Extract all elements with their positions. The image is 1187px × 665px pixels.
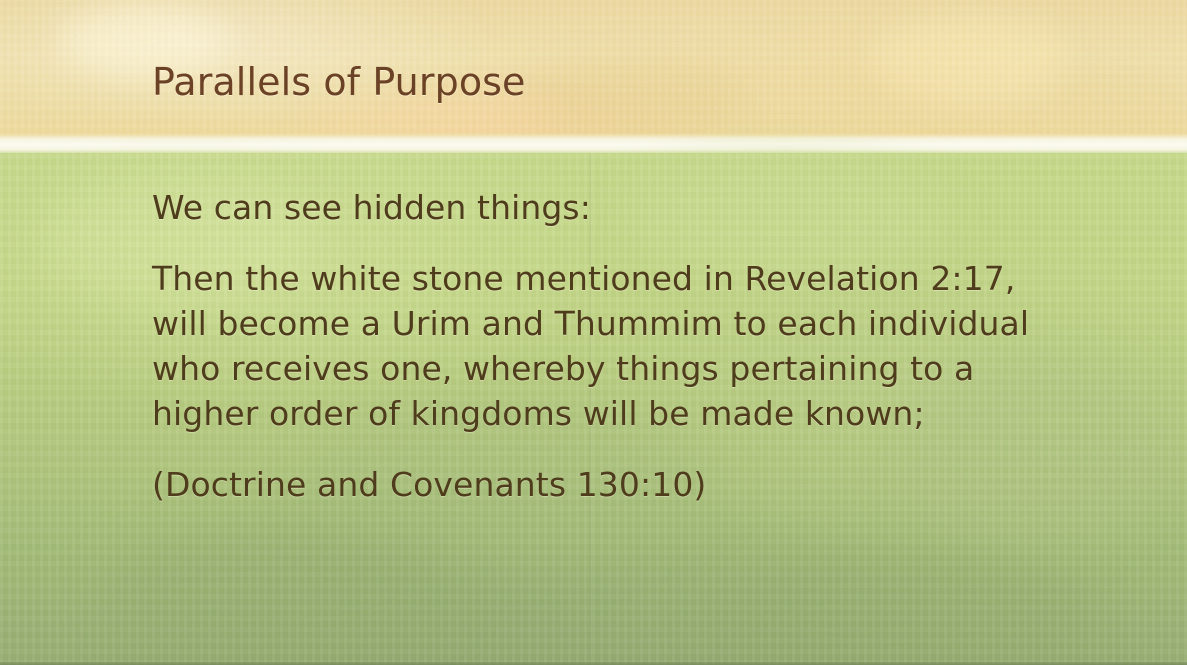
slide-body-panel: We can see hidden things: Then the white… [0, 153, 1187, 665]
presentation-slide: Parallels of Purpose We can see hidden t… [0, 0, 1187, 665]
lead-paragraph: We can see hidden things: [152, 185, 1072, 230]
quote-line: who receives one, whereby things pertain… [152, 346, 1072, 391]
slide-title: Parallels of Purpose [152, 63, 526, 101]
quotation-paragraph: Then the white stone mentioned in Revela… [152, 256, 1072, 436]
quote-line: Then the white stone mentioned in Revela… [152, 256, 1072, 301]
quote-line: will become a Urim and Thummim to each i… [152, 301, 1072, 346]
paper-texture-blotch [100, 523, 460, 663]
paper-texture-blotch [1050, 70, 1187, 136]
quote-line: higher order of kingdoms will be made kn… [152, 391, 1072, 436]
slide-body-text: We can see hidden things: Then the white… [152, 185, 1072, 507]
paper-texture-blotch [700, 553, 1100, 665]
paper-texture-blotch [870, 14, 1070, 104]
scripture-citation: (Doctrine and Covenants 130:10) [152, 462, 1072, 507]
paper-texture-blotch [520, 58, 750, 134]
